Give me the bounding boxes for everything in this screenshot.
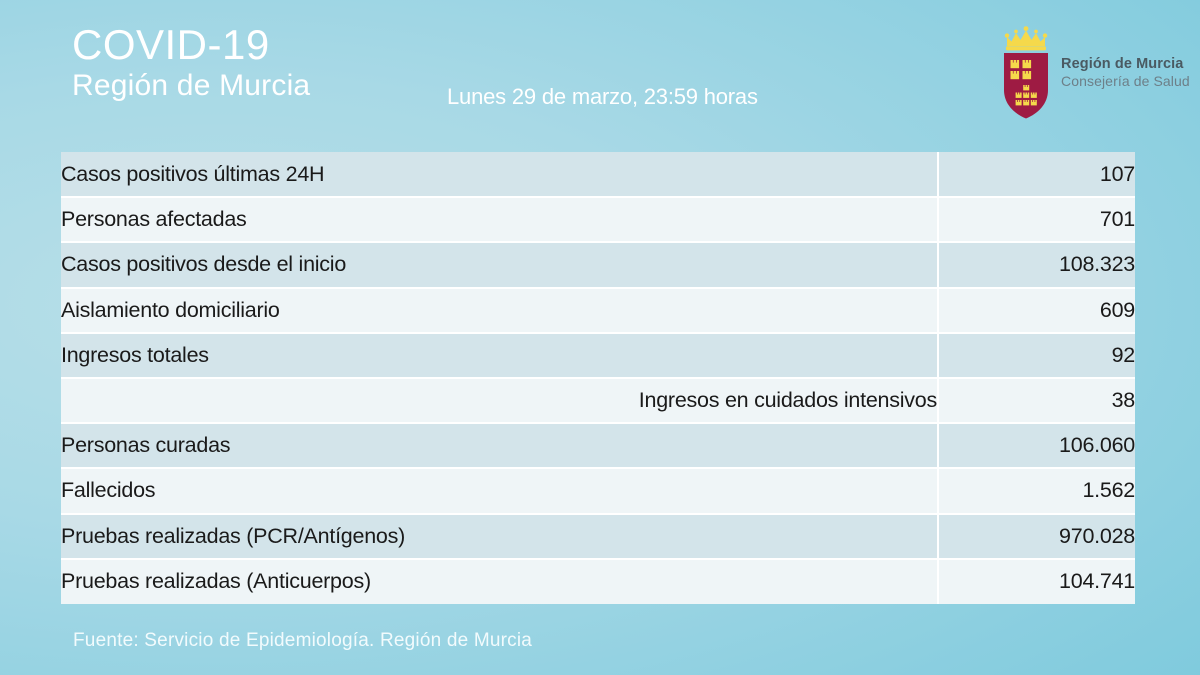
stat-label: Ingresos totales — [61, 333, 938, 378]
stat-label: Pruebas realizadas (Anticuerpos) — [61, 559, 938, 604]
stat-value: 701 — [938, 197, 1135, 242]
table-row: Ingresos totales92 — [61, 333, 1135, 378]
table-row: Personas afectadas701 — [61, 197, 1135, 242]
table-row: Fallecidos1.562 — [61, 468, 1135, 513]
stat-value: 92 — [938, 333, 1135, 378]
table-row: Aislamiento domiciliario609 — [61, 288, 1135, 333]
stat-label: Personas curadas — [61, 423, 938, 468]
table-row: Personas curadas106.060 — [61, 423, 1135, 468]
stat-label: Aislamiento domiciliario — [61, 288, 938, 333]
date-stamp: Lunes 29 de marzo, 23:59 horas — [447, 84, 758, 110]
table-body: Casos positivos últimas 24H107Personas a… — [61, 152, 1135, 604]
covid-stats-table: Casos positivos últimas 24H107Personas a… — [61, 152, 1135, 604]
stat-value: 1.562 — [938, 468, 1135, 513]
stat-value: 107 — [938, 152, 1135, 197]
logo-region-name: Región de Murcia — [1061, 56, 1190, 73]
region-de-murcia-logo: Región de Murcia Consejería de Salud — [995, 24, 1185, 124]
table-row: Pruebas realizadas (PCR/Antígenos)970.02… — [61, 514, 1135, 559]
stat-value: 38 — [938, 378, 1135, 423]
table-row: Casos positivos desde el inicio108.323 — [61, 242, 1135, 287]
stat-value: 609 — [938, 288, 1135, 333]
covid-stats-slide: COVID-19 Región de Murcia Lunes 29 de ma… — [0, 0, 1200, 675]
slide-header: COVID-19 Región de Murcia Lunes 29 de ma… — [0, 0, 1200, 150]
table-row: Pruebas realizadas (Anticuerpos)104.741 — [61, 559, 1135, 604]
page-subtitle: Región de Murcia — [72, 69, 310, 103]
stat-label: Casos positivos desde el inicio — [61, 242, 938, 287]
stat-label: Ingresos en cuidados intensivos — [61, 378, 938, 423]
source-footer: Fuente: Servicio de Epidemiología. Regió… — [73, 630, 532, 652]
logo-department-name: Consejería de Salud — [1061, 73, 1190, 90]
logo-text: Región de Murcia Consejería de Salud — [1061, 56, 1190, 90]
table-row: Casos positivos últimas 24H107 — [61, 152, 1135, 197]
stat-label: Casos positivos últimas 24H — [61, 152, 938, 197]
stat-value: 108.323 — [938, 242, 1135, 287]
title-block: COVID-19 Región de Murcia — [72, 22, 310, 103]
stat-value: 104.741 — [938, 559, 1135, 604]
page-title: COVID-19 — [72, 22, 310, 67]
stat-value: 106.060 — [938, 423, 1135, 468]
stat-value: 970.028 — [938, 514, 1135, 559]
table-row: Ingresos en cuidados intensivos38 — [61, 378, 1135, 423]
stat-label: Fallecidos — [61, 468, 938, 513]
stat-label: Pruebas realizadas (PCR/Antígenos) — [61, 514, 938, 559]
murcia-shield-icon — [995, 24, 1057, 124]
stat-label: Personas afectadas — [61, 197, 938, 242]
